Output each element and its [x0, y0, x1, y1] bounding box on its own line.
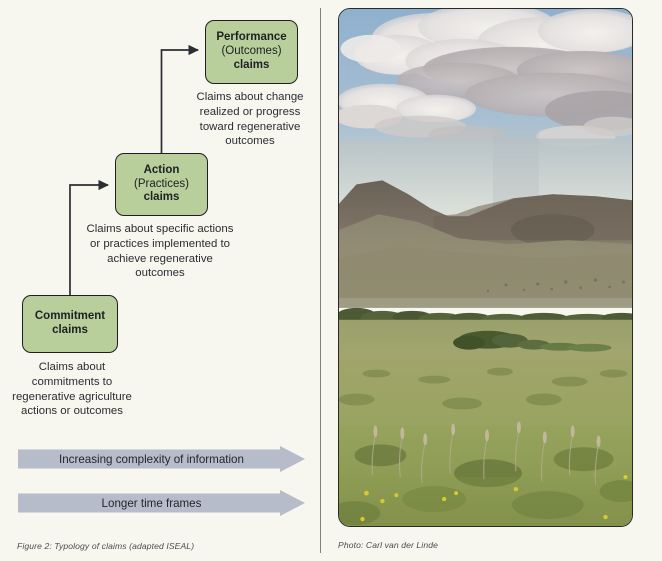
performance-line-3: claims: [234, 59, 270, 73]
landscape-photo: [338, 8, 633, 527]
photo-illustration: [339, 9, 632, 526]
claim-box-action[interactable]: Action (Practices) claims: [115, 153, 208, 216]
performance-line-2: (Outcomes): [221, 45, 281, 59]
action-line-3: claims: [144, 191, 180, 205]
commitment-line-2: claims: [52, 324, 88, 338]
connector-commitment-to-action: [70, 185, 108, 295]
connector-action-to-performance: [162, 50, 199, 153]
action-line-1: Action: [144, 164, 180, 178]
performance-line-1: Performance: [216, 31, 286, 45]
figure-panel: Performance (Outcomes) claims Claims abo…: [0, 0, 321, 561]
connector-arrows: [0, 0, 321, 561]
claim-box-performance[interactable]: Performance (Outcomes) claims: [205, 20, 298, 84]
action-line-2: (Practices): [134, 178, 189, 192]
claim-box-commitment[interactable]: Commitment claims: [22, 295, 118, 353]
commitment-line-1: Commitment: [35, 310, 105, 324]
photo-caption: Photo: Carl van der Linde: [338, 540, 438, 550]
